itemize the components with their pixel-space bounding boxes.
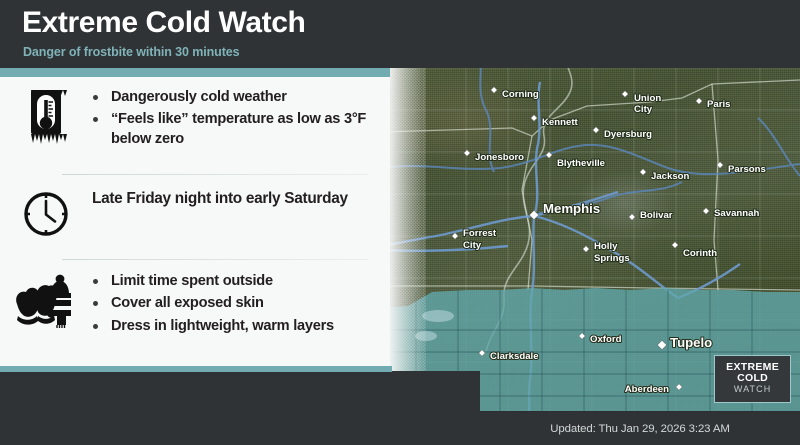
cold-weather-text: Dangerously cold weather“Feels like” tem… xyxy=(92,88,390,152)
city-label: Parsons xyxy=(728,164,766,175)
header-accent-stripe xyxy=(0,68,390,77)
city-marker xyxy=(672,242,678,248)
bullet-item: Dress in lightweight, warm layers xyxy=(92,317,374,336)
section-cold-weather: Dangerously cold weather“Feels like” tem… xyxy=(0,77,390,174)
city-label: Kennett xyxy=(542,117,579,128)
bullet-item: Limit time spent outside xyxy=(92,272,374,291)
city-label: City xyxy=(463,240,482,251)
timing-text: Late Friday night into early Saturday xyxy=(92,189,374,209)
mittens-icon-cell xyxy=(0,272,92,328)
city-label: Jonesboro xyxy=(475,152,524,163)
city-marker xyxy=(491,87,497,93)
city-marker xyxy=(640,169,646,175)
city-label: Memphis xyxy=(543,201,600,216)
city-marker xyxy=(696,98,702,104)
city-marker xyxy=(583,246,589,252)
weather-graphic: CorningUnionCityParisKennettDyersburgJon… xyxy=(0,0,800,445)
state-boundaries xyxy=(382,80,800,290)
city-label: Forrest xyxy=(463,228,497,239)
city-marker xyxy=(529,210,538,219)
cold-weather-bullets: Dangerously cold weather“Feels like” tem… xyxy=(92,88,374,149)
city-label: Oxford xyxy=(590,334,622,345)
updated-bar: Updated: Thu Jan 29, 2026 3:23 AM xyxy=(480,412,800,445)
bullet-item: Cover all exposed skin xyxy=(92,294,374,313)
city-marker xyxy=(452,233,458,239)
section-timing: Late Friday night into early Saturday xyxy=(0,175,390,259)
city-label: Jackson xyxy=(651,171,690,182)
thermometer-icon xyxy=(25,88,67,146)
city-label: Springs xyxy=(594,253,630,264)
city-label: Bolivar xyxy=(640,210,673,221)
forecast-map[interactable]: CorningUnionCityParisKennettDyersburgJon… xyxy=(382,40,800,411)
clock-icon xyxy=(21,189,71,239)
thermometer-icon-cell xyxy=(0,88,92,146)
mittens-hat-scarf-icon xyxy=(13,272,79,328)
map-legend: EXTREME COLD WATCH xyxy=(714,355,791,403)
legend-line-2: COLD xyxy=(726,373,779,384)
city-label: Clarksdale xyxy=(490,351,539,362)
header-bar: Extreme Cold Watch Danger of frostbite w… xyxy=(0,0,800,68)
legend-line-3: WATCH xyxy=(726,385,779,395)
clock-icon-cell xyxy=(0,189,92,239)
updated-timestamp: Updated: Thu Jan 29, 2026 3:23 AM xyxy=(550,423,730,435)
city-label: Holly xyxy=(594,241,618,252)
page-title: Extreme Cold Watch xyxy=(22,6,305,40)
city-label: Tupelo xyxy=(670,335,712,350)
safety-bullets: Limit time spent outsideCover all expose… xyxy=(92,272,374,336)
city-marker xyxy=(531,115,537,121)
city-label: Savannah xyxy=(714,208,759,219)
bullet-item: “Feels like” temperature as low as 3°F b… xyxy=(92,110,374,149)
city-label: City xyxy=(634,104,653,115)
city-marker xyxy=(622,91,628,97)
city-label: Dyersburg xyxy=(604,129,652,140)
city-label: Corning xyxy=(502,89,539,100)
bullet-item: Dangerously cold weather xyxy=(92,88,374,107)
city-label: Union xyxy=(634,93,661,104)
page-subtitle: Danger of frostbite within 30 minutes xyxy=(23,45,239,59)
city-label: Blytheville xyxy=(557,158,605,169)
footer-accent-stripe xyxy=(0,366,392,372)
section-safety: Limit time spent outsideCover all expose… xyxy=(0,260,390,370)
city-label: Aberdeen xyxy=(625,384,669,395)
city-marker xyxy=(593,127,599,133)
city-marker xyxy=(464,150,470,156)
city-marker xyxy=(703,208,709,214)
city-label: Paris xyxy=(707,99,730,110)
footer-bar: NOAA NATIONAL SERVICE weather.gov/memphi… xyxy=(0,371,480,445)
timing-text-cell: Late Friday night into early Saturday xyxy=(92,189,390,209)
city-label: Corinth xyxy=(683,248,717,259)
info-panel: Dangerously cold weather“Feels like” tem… xyxy=(0,77,390,371)
safety-text: Limit time spent outsideCover all expose… xyxy=(92,272,390,339)
